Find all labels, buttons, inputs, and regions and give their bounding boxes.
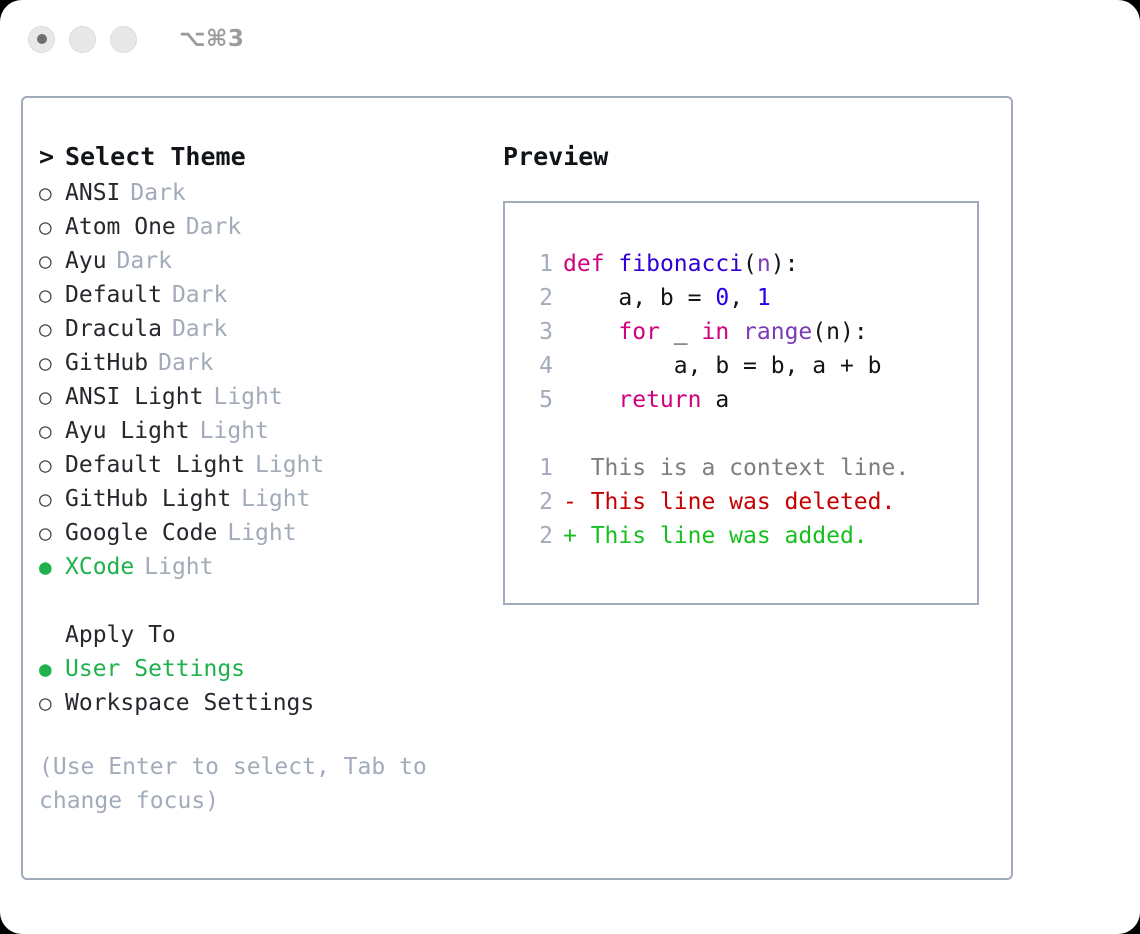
radio-unselected-icon[interactable]: ○ — [39, 691, 65, 715]
theme-name-label: ANSI — [65, 180, 120, 206]
code-token: range — [743, 319, 812, 345]
code-line: 5 return a — [519, 383, 977, 417]
theme-name-label: GitHub — [65, 350, 148, 376]
theme-name-label: ANSI Light — [65, 384, 203, 410]
diff-text: This is a context line. — [563, 455, 909, 481]
apply-to-label: User Settings — [65, 656, 245, 682]
window-titlebar: ⌥⌘3 — [0, 0, 1140, 78]
theme-variant-label: Light — [200, 418, 269, 444]
section-spacer — [39, 588, 489, 622]
code-token: for — [618, 319, 660, 345]
theme-variant-label: Light — [241, 486, 310, 512]
code-token: ( — [743, 251, 757, 277]
code-line: 1def fibonacci(n): — [519, 247, 977, 281]
window-button-secondary[interactable] — [69, 26, 96, 53]
code-token: a — [701, 387, 729, 413]
code-token: def — [563, 251, 605, 277]
line-number: 1 — [519, 451, 553, 485]
code-token: a, b = b, a + b — [563, 353, 882, 379]
diff-text: - This line was deleted. — [563, 489, 895, 515]
code-token: , — [729, 285, 757, 311]
theme-name-label: Default Light — [65, 452, 245, 478]
code-token — [563, 387, 618, 413]
code-token: fibonacci — [618, 251, 743, 277]
theme-name-label: GitHub Light — [65, 486, 231, 512]
theme-name-label: Ayu — [65, 248, 107, 274]
apply-to-item[interactable]: ○Workspace Settings — [39, 690, 489, 724]
theme-list-item[interactable]: ○GitHub LightLight — [39, 486, 489, 520]
code-token: n — [757, 251, 771, 277]
theme-name-label: Default — [65, 282, 162, 308]
select-theme-heading: > Select Theme — [39, 142, 489, 180]
theme-variant-label: Light — [213, 384, 282, 410]
theme-variant-label: Light — [227, 520, 296, 546]
code-token: _ — [660, 319, 702, 345]
theme-list-item[interactable]: ○Ayu LightLight — [39, 418, 489, 452]
radio-selected-icon[interactable]: ● — [39, 555, 65, 579]
theme-list-item[interactable]: ○Default LightLight — [39, 452, 489, 486]
radio-unselected-icon[interactable]: ○ — [39, 521, 65, 545]
code-line: 3 for _ in range(n): — [519, 315, 977, 349]
theme-list[interactable]: ○ANSIDark○Atom OneDark○AyuDark○DefaultDa… — [39, 180, 489, 588]
preview-title: Preview — [503, 142, 993, 171]
theme-variant-label: Dark — [130, 180, 185, 206]
radio-unselected-icon[interactable]: ○ — [39, 419, 65, 443]
dialog-card: > Select Theme ○ANSIDark○Atom OneDark○Ay… — [21, 96, 1013, 880]
line-number: 4 — [519, 349, 553, 383]
diff-line: 1 This is a context line. — [519, 451, 977, 485]
code-sample: 1def fibonacci(n):2 a, b = 0, 13 for _ i… — [519, 247, 977, 417]
theme-list-item[interactable]: ○ANSI LightLight — [39, 384, 489, 418]
code-token — [729, 319, 743, 345]
radio-unselected-icon[interactable]: ○ — [39, 283, 65, 307]
radio-unselected-icon[interactable]: ○ — [39, 181, 65, 205]
theme-list-item[interactable]: ○AyuDark — [39, 248, 489, 282]
radio-selected-icon[interactable]: ● — [39, 657, 65, 681]
window-button-tertiary[interactable] — [110, 26, 137, 53]
theme-name-label: XCode — [65, 554, 134, 580]
window-button-primary[interactable] — [28, 26, 55, 53]
theme-list-item[interactable]: ○Atom OneDark — [39, 214, 489, 248]
theme-list-item[interactable]: ○DraculaDark — [39, 316, 489, 350]
code-token: (n): — [812, 319, 867, 345]
code-token: a, b = — [563, 285, 715, 311]
line-number: 3 — [519, 315, 553, 349]
preview-box: 1def fibonacci(n):2 a, b = 0, 13 for _ i… — [503, 201, 979, 605]
theme-variant-label: Dark — [186, 214, 241, 240]
line-number: 5 — [519, 383, 553, 417]
radio-unselected-icon[interactable]: ○ — [39, 351, 65, 375]
theme-variant-label: Dark — [172, 282, 227, 308]
theme-name-label: Ayu Light — [65, 418, 190, 444]
terminal-window: ⌥⌘3 > Select Theme ○ANSIDark○Atom OneDar… — [0, 0, 1140, 934]
code-token: ): — [771, 251, 799, 277]
radio-unselected-icon[interactable]: ○ — [39, 317, 65, 341]
radio-unselected-icon[interactable]: ○ — [39, 453, 65, 477]
code-line: 4 a, b = b, a + b — [519, 349, 977, 383]
apply-to-item[interactable]: ●User Settings — [39, 656, 489, 690]
code-token: in — [701, 319, 729, 345]
line-number: 1 — [519, 247, 553, 281]
theme-variant-label: Light — [255, 452, 324, 478]
apply-to-heading: Apply To — [39, 622, 489, 656]
theme-name-label: Dracula — [65, 316, 162, 342]
theme-name-label: Google Code — [65, 520, 217, 546]
theme-variant-label: Light — [144, 554, 213, 580]
apply-to-label: Workspace Settings — [65, 690, 314, 716]
code-token — [605, 251, 619, 277]
keyboard-shortcut-label: ⌥⌘3 — [179, 26, 244, 52]
apply-to-list[interactable]: ●User Settings○Workspace Settings — [39, 656, 489, 724]
window-button-primary-dot — [37, 34, 47, 44]
code-token: return — [618, 387, 701, 413]
diff-line: 2- This line was deleted. — [519, 485, 977, 519]
theme-list-item[interactable]: ○Google CodeLight — [39, 520, 489, 554]
code-diff-spacer — [519, 417, 977, 451]
line-number: 2 — [519, 519, 553, 553]
select-theme-heading-label: Select Theme — [65, 142, 246, 171]
theme-list-item[interactable]: ○ANSIDark — [39, 180, 489, 214]
code-token: 1 — [757, 285, 771, 311]
theme-list-item[interactable]: ○DefaultDark — [39, 282, 489, 316]
theme-selector-panel: > Select Theme ○ANSIDark○Atom OneDark○Ay… — [39, 142, 489, 818]
theme-variant-label: Dark — [172, 316, 227, 342]
code-line: 2 a, b = 0, 1 — [519, 281, 977, 315]
diff-line: 2+ This line was added. — [519, 519, 977, 553]
line-number: 2 — [519, 485, 553, 519]
theme-list-item[interactable]: ●XCodeLight — [39, 554, 489, 588]
prompt-caret-icon: > — [39, 142, 65, 171]
radio-unselected-icon[interactable]: ○ — [39, 249, 65, 273]
theme-variant-label: Dark — [117, 248, 172, 274]
radio-unselected-icon[interactable]: ○ — [39, 385, 65, 409]
code-token: 0 — [715, 285, 729, 311]
theme-variant-label: Dark — [158, 350, 213, 376]
apply-to-heading-label: Apply To — [65, 622, 176, 648]
theme-list-item[interactable]: ○GitHubDark — [39, 350, 489, 384]
keyboard-hint: (Use Enter to select, Tab to change focu… — [39, 750, 439, 818]
radio-unselected-icon[interactable]: ○ — [39, 487, 65, 511]
preview-panel: Preview 1def fibonacci(n):2 a, b = 0, 13… — [503, 142, 993, 605]
code-token — [563, 319, 618, 345]
diff-text: + This line was added. — [563, 523, 868, 549]
diff-sample: 1 This is a context line.2- This line wa… — [519, 451, 977, 553]
radio-unselected-icon[interactable]: ○ — [39, 215, 65, 239]
theme-name-label: Atom One — [65, 214, 176, 240]
line-number: 2 — [519, 281, 553, 315]
